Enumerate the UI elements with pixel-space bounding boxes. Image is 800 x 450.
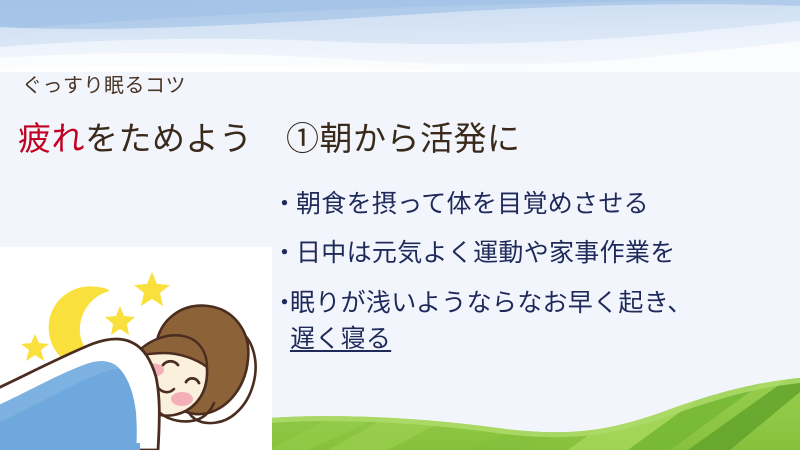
bullet-marker-icon: ・	[272, 235, 296, 271]
bullet-text-line1: 眠りが浅いようならなお早く起き、	[290, 289, 693, 317]
title-rest: をためよう ①朝から活発に	[85, 120, 521, 157]
green-hills-banner	[268, 370, 800, 450]
slide-kicker: ぐっすり眠るコツ	[22, 74, 186, 98]
bullet-text: 日中は元気よく運動や家事作業を	[296, 235, 800, 271]
bullet-text: 眠りが浅いようならなお早く起き、遅く寝る	[290, 285, 800, 358]
bullet-marker-icon: ・	[272, 285, 290, 321]
list-item: ・ 眠りが浅いようならなお早く起き、遅く寝る	[272, 285, 800, 358]
page-title: 疲れをためよう ①朝から活発に	[18, 118, 521, 159]
bullet-marker-icon: ・	[272, 186, 296, 222]
bullet-text: 朝食を摂って体を目覚めさせる	[296, 186, 800, 222]
bullet-list: ・ 朝食を摂って体を目覚めさせる ・ 日中は元気よく運動や家事作業を ・ 眠りが…	[272, 186, 800, 357]
blue-wave-banner	[0, 0, 800, 72]
slide-canvas: ぐっすり眠るコツ 疲れをためよう ①朝から活発に ・ 朝食を摂って体を目覚めさせ…	[0, 0, 800, 450]
sleeping-woman-illustration	[0, 247, 272, 450]
title-accent: 疲れ	[18, 120, 85, 157]
bullet-text-line2-underlined: 遅く寝る	[290, 325, 391, 353]
list-item: ・ 日中は元気よく運動や家事作業を	[272, 235, 800, 271]
pink-cheek	[171, 392, 193, 406]
list-item: ・ 朝食を摂って体を目覚めさせる	[272, 186, 800, 222]
